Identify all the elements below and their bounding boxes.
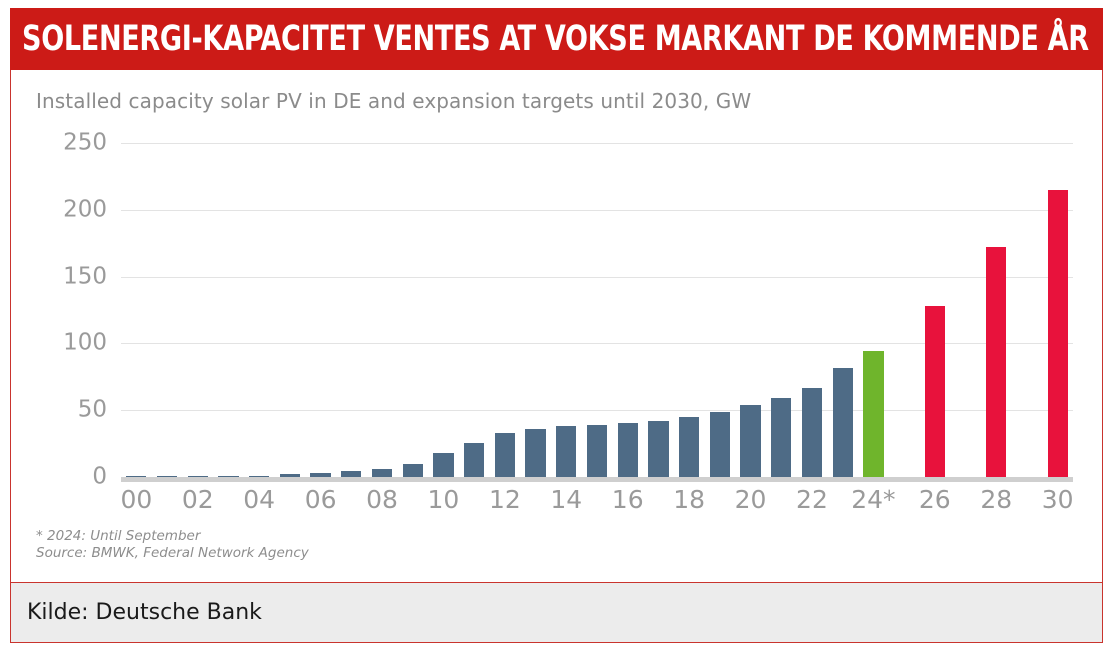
bar-2010 — [433, 453, 453, 477]
bar-2015 — [587, 425, 607, 477]
bar-2014 — [556, 426, 576, 477]
x-axis: 00020406081012141618202224*262830 — [121, 485, 1073, 519]
bar-2028 — [986, 247, 1006, 477]
bar-2016 — [618, 423, 638, 477]
source-caption: Kilde: Deutsche Bank — [11, 600, 262, 625]
y-axis-tick-label: 200 — [29, 196, 107, 222]
y-axis-tick-label: 0 — [29, 463, 107, 489]
x-axis-tick-label: 08 — [366, 485, 398, 514]
x-axis-tick-label: 10 — [428, 485, 460, 514]
bar-2009 — [403, 464, 423, 477]
bar-2019 — [710, 412, 730, 477]
y-axis-tick-label: 100 — [29, 330, 107, 356]
page-title: SOLENERGI-KAPACITET VENTES AT VOKSE MARK… — [10, 19, 1089, 59]
bar-2024 — [863, 351, 883, 477]
bar-2018 — [679, 417, 699, 477]
bar-2030 — [1048, 190, 1068, 477]
bar-2008 — [372, 469, 392, 477]
x-axis-tick-label: 18 — [673, 485, 705, 514]
y-axis-tick-label: 150 — [29, 263, 107, 289]
y-axis-tick-label: 250 — [29, 129, 107, 155]
plot-area: 050100150200250 — [121, 143, 1073, 477]
chart-panel: Installed capacity solar PV in DE and ex… — [10, 70, 1103, 583]
x-axis-tick-label: 16 — [612, 485, 644, 514]
bar-2011 — [464, 443, 484, 477]
x-axis-tick-label: 12 — [489, 485, 521, 514]
x-axis-tick-label: 24* — [851, 485, 895, 514]
x-axis-tick-label: 00 — [120, 485, 152, 514]
x-axis-tick-label: 22 — [796, 485, 828, 514]
bar-2012 — [495, 433, 515, 477]
axis-baseline — [121, 477, 1073, 482]
bar-2023 — [833, 368, 853, 477]
chart-footnotes: * 2024: Until September Source: BMWK, Fe… — [36, 528, 309, 562]
x-axis-tick-label: 30 — [1042, 485, 1074, 514]
bar-series-group — [121, 143, 1073, 477]
x-axis-tick-label: 28 — [980, 485, 1012, 514]
bar-2026 — [925, 306, 945, 477]
x-axis-tick-label: 06 — [305, 485, 337, 514]
x-axis-tick-label: 04 — [243, 485, 275, 514]
x-axis-tick-label: 14 — [550, 485, 582, 514]
x-axis-tick-label: 26 — [919, 485, 951, 514]
y-axis-tick-label: 50 — [29, 397, 107, 423]
footnote-asterisk: * 2024: Until September — [36, 528, 309, 545]
source-footer: Kilde: Deutsche Bank — [10, 583, 1103, 643]
footnote-source: Source: BMWK, Federal Network Agency — [36, 545, 309, 562]
bar-2022 — [802, 388, 822, 477]
bar-2017 — [648, 421, 668, 478]
x-axis-tick-label: 20 — [735, 485, 767, 514]
chart-subtitle: Installed capacity solar PV in DE and ex… — [36, 89, 751, 113]
header-banner: SOLENERGI-KAPACITET VENTES AT VOKSE MARK… — [10, 8, 1103, 70]
bar-2021 — [771, 398, 791, 477]
infographic-card: SOLENERGI-KAPACITET VENTES AT VOKSE MARK… — [0, 0, 1113, 653]
bar-2020 — [740, 405, 760, 477]
x-axis-tick-label: 02 — [182, 485, 214, 514]
bar-2013 — [525, 429, 545, 477]
